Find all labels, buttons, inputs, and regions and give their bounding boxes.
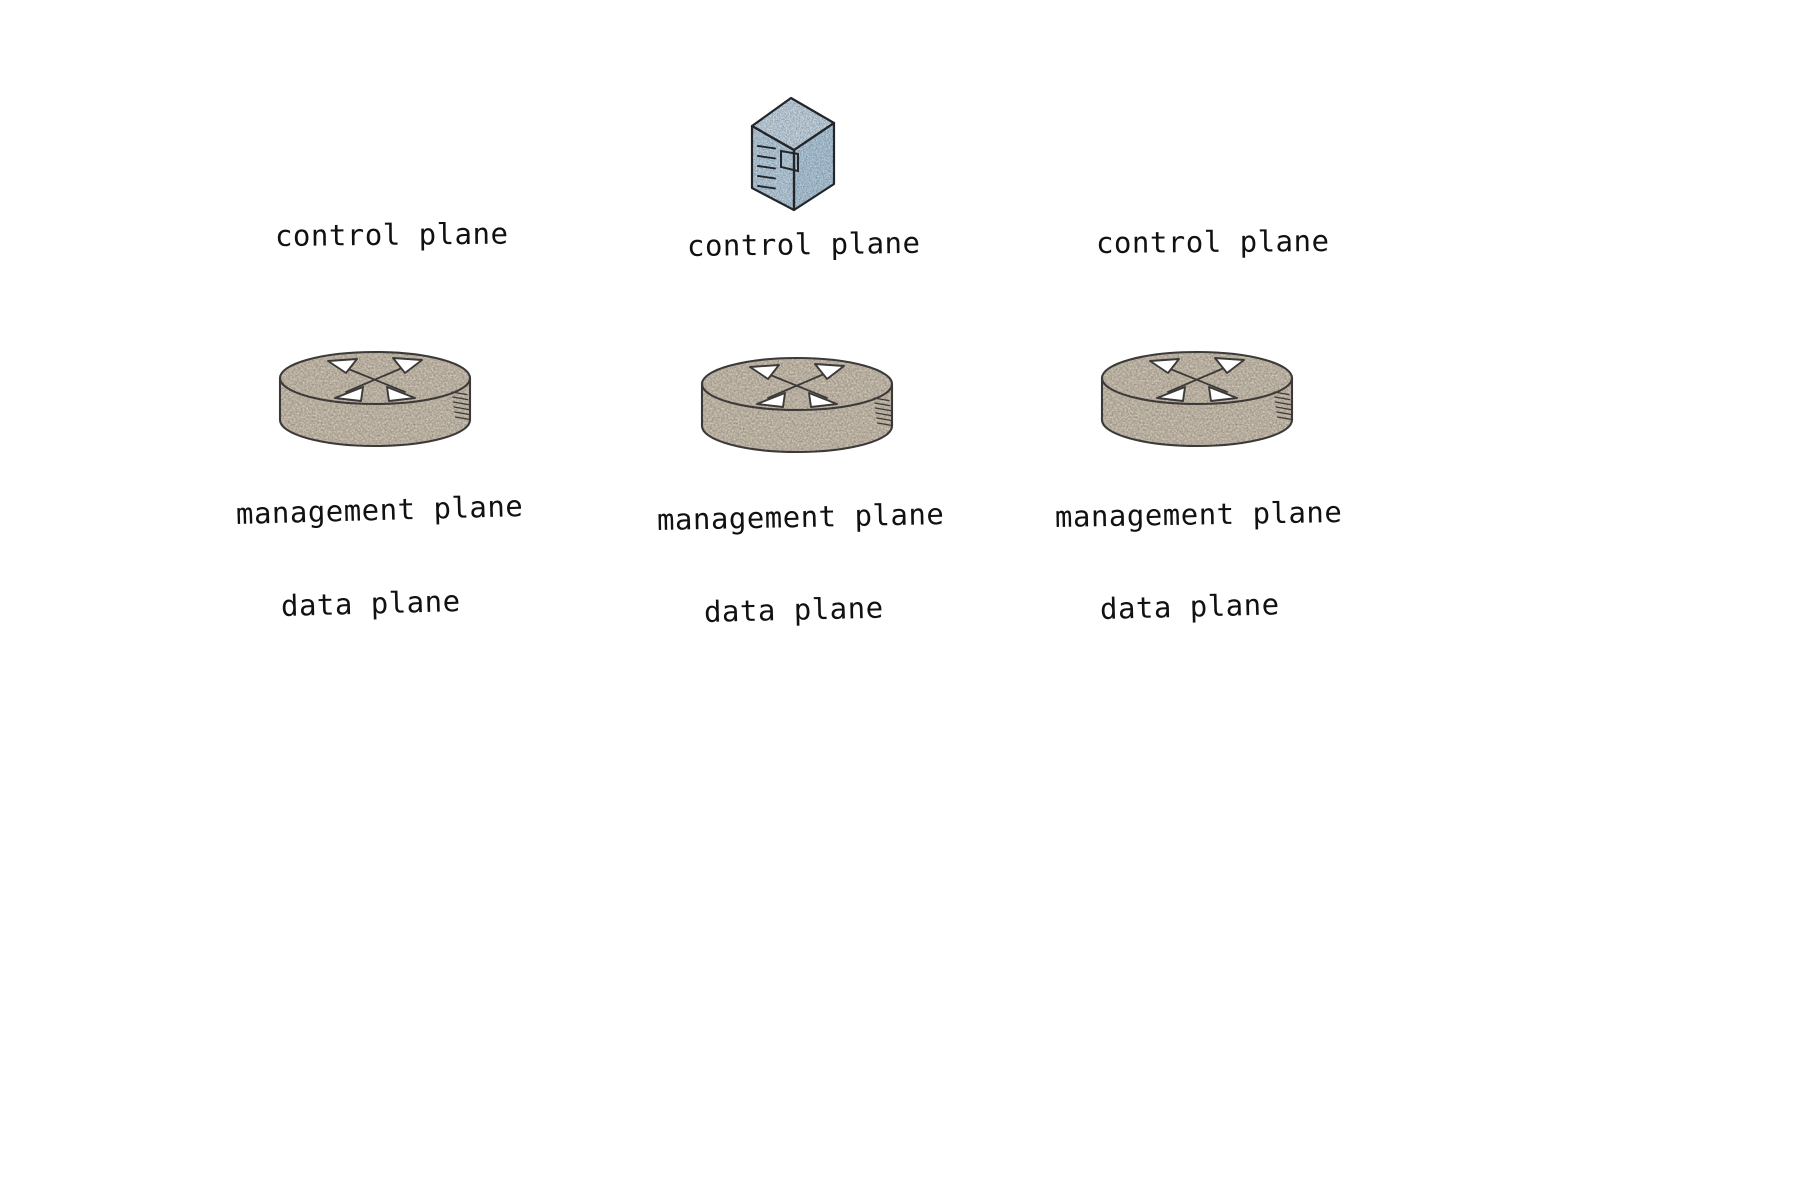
- management-plane-label: management plane: [1055, 498, 1343, 532]
- data-plane-label: data plane: [704, 594, 884, 627]
- control-plane-label: control plane: [687, 229, 921, 261]
- management-plane-label: management plane: [657, 500, 945, 535]
- server-icon[interactable]: [742, 92, 848, 212]
- control-plane-label: control plane: [1096, 227, 1330, 258]
- data-plane-label: data plane: [281, 587, 461, 621]
- router-icon[interactable]: [1096, 346, 1302, 454]
- router-icon[interactable]: [696, 352, 902, 460]
- diagram-canvas: control planemanagement planedata planec…: [0, 0, 1800, 1200]
- data-plane-label: data plane: [1100, 590, 1280, 624]
- management-plane-label: management plane: [236, 492, 524, 529]
- router-icon[interactable]: [274, 346, 480, 454]
- control-plane-label: control plane: [275, 220, 509, 251]
